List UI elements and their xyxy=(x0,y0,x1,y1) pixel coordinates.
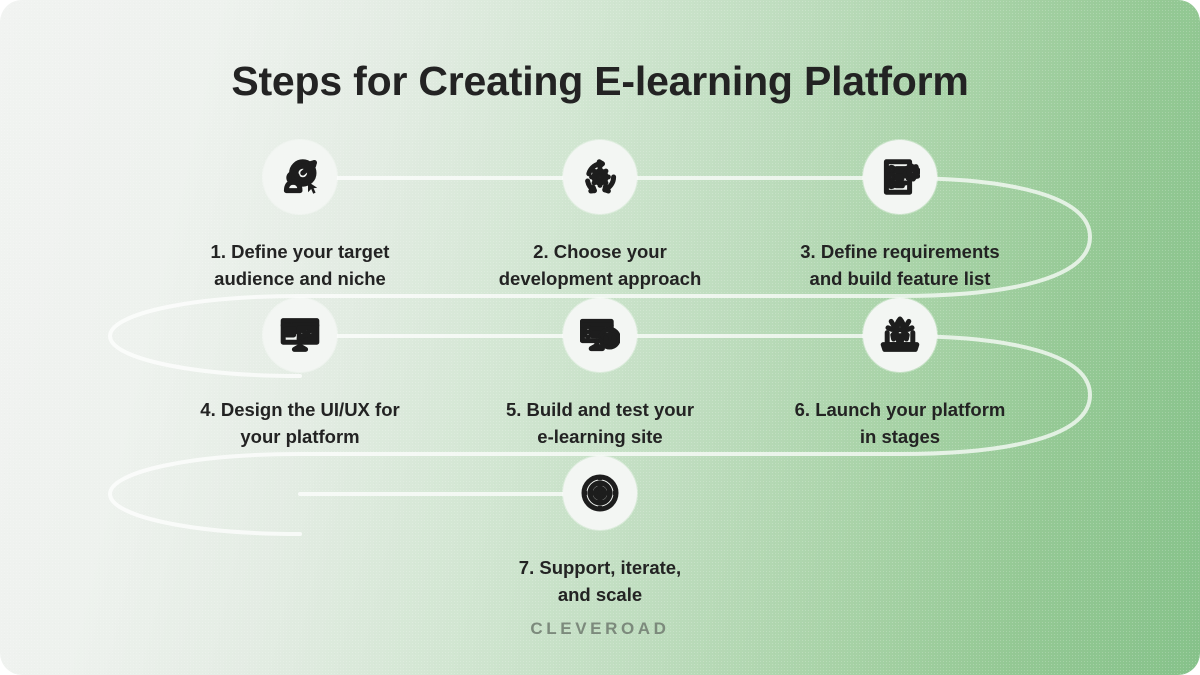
step-item-4: 4. Design the UI/UX for your platform xyxy=(150,298,450,450)
development-cycle-gear-icon xyxy=(563,140,637,214)
step-item-5: 5. Build and test your e-learning site xyxy=(450,298,750,450)
page-title: Steps for Creating E-learning Platform xyxy=(0,58,1200,105)
step-label: 3. Define requirements and build feature… xyxy=(750,238,1050,292)
monitor-elearning-graduation-icon xyxy=(563,298,637,372)
infographic-canvas: Steps for Creating E-learning Platform 1… xyxy=(0,0,1200,675)
step-label: 5. Build and test your e-learning site xyxy=(450,396,750,450)
step-label: 1. Define your target audience and niche xyxy=(150,238,450,292)
brand-logo-text: CLEVEROAD xyxy=(0,619,1200,639)
iterate-scale-circles-icon xyxy=(563,456,637,530)
target-audience-icon xyxy=(263,140,337,214)
step-label: 7. Support, iterate, and scale xyxy=(450,554,750,608)
infographic-board: Steps for Creating E-learning Platform 1… xyxy=(0,0,1200,675)
step-label: 2. Choose your development approach xyxy=(450,238,750,292)
step-item-1: 1. Define your target audience and niche xyxy=(150,140,450,292)
monitor-wireframe-icon xyxy=(263,298,337,372)
step-item-3: 3. Define requirements and build feature… xyxy=(750,140,1050,292)
step-item-7: 7. Support, iterate, and scale xyxy=(450,456,750,608)
requirements-checklist-gear-icon xyxy=(863,140,937,214)
step-item-2: 2. Choose your development approach xyxy=(450,140,750,292)
step-label: 6. Launch your platform in stages xyxy=(750,396,1050,450)
step-item-6: 6. Launch your platform in stages xyxy=(750,298,1050,450)
rocket-laptop-launch-icon xyxy=(863,298,937,372)
step-label: 4. Design the UI/UX for your platform xyxy=(150,396,450,450)
